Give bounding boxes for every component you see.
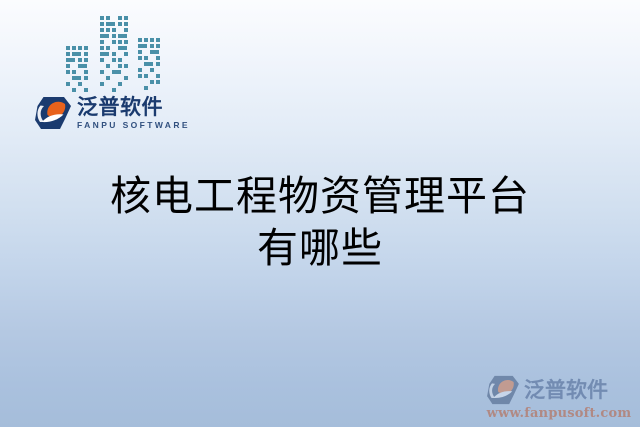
brand-wordmark: 泛普软件 FANPU SOFTWARE [77, 96, 190, 130]
watermark-name-cn: 泛普软件 [524, 380, 608, 401]
brand-name-en: FANPU SOFTWARE [77, 120, 190, 130]
page-title: 核电工程物资管理平台 有哪些 [0, 170, 640, 274]
watermark: 泛普软件 www.fanpusoft.com [486, 375, 632, 421]
page-title-line-2: 有哪些 [0, 222, 640, 274]
fanpu-hexagon-logo-mark-watermark [486, 375, 520, 405]
watermark-url: www.fanpusoft.com [486, 406, 632, 421]
page-title-line-1: 核电工程物资管理平台 [0, 170, 640, 222]
slide-canvas: 泛普软件 FANPU SOFTWARE 核电工程物资管理平台 有哪些 泛普软件 … [0, 0, 640, 427]
brand-name-cn: 泛普软件 [77, 96, 190, 118]
pixel-city-skyline-graphic [62, 14, 167, 96]
watermark-logo-row: 泛普软件 [486, 375, 632, 405]
brand-logo: 泛普软件 FANPU SOFTWARE [34, 96, 190, 130]
fanpu-hexagon-logo-mark [34, 96, 72, 130]
